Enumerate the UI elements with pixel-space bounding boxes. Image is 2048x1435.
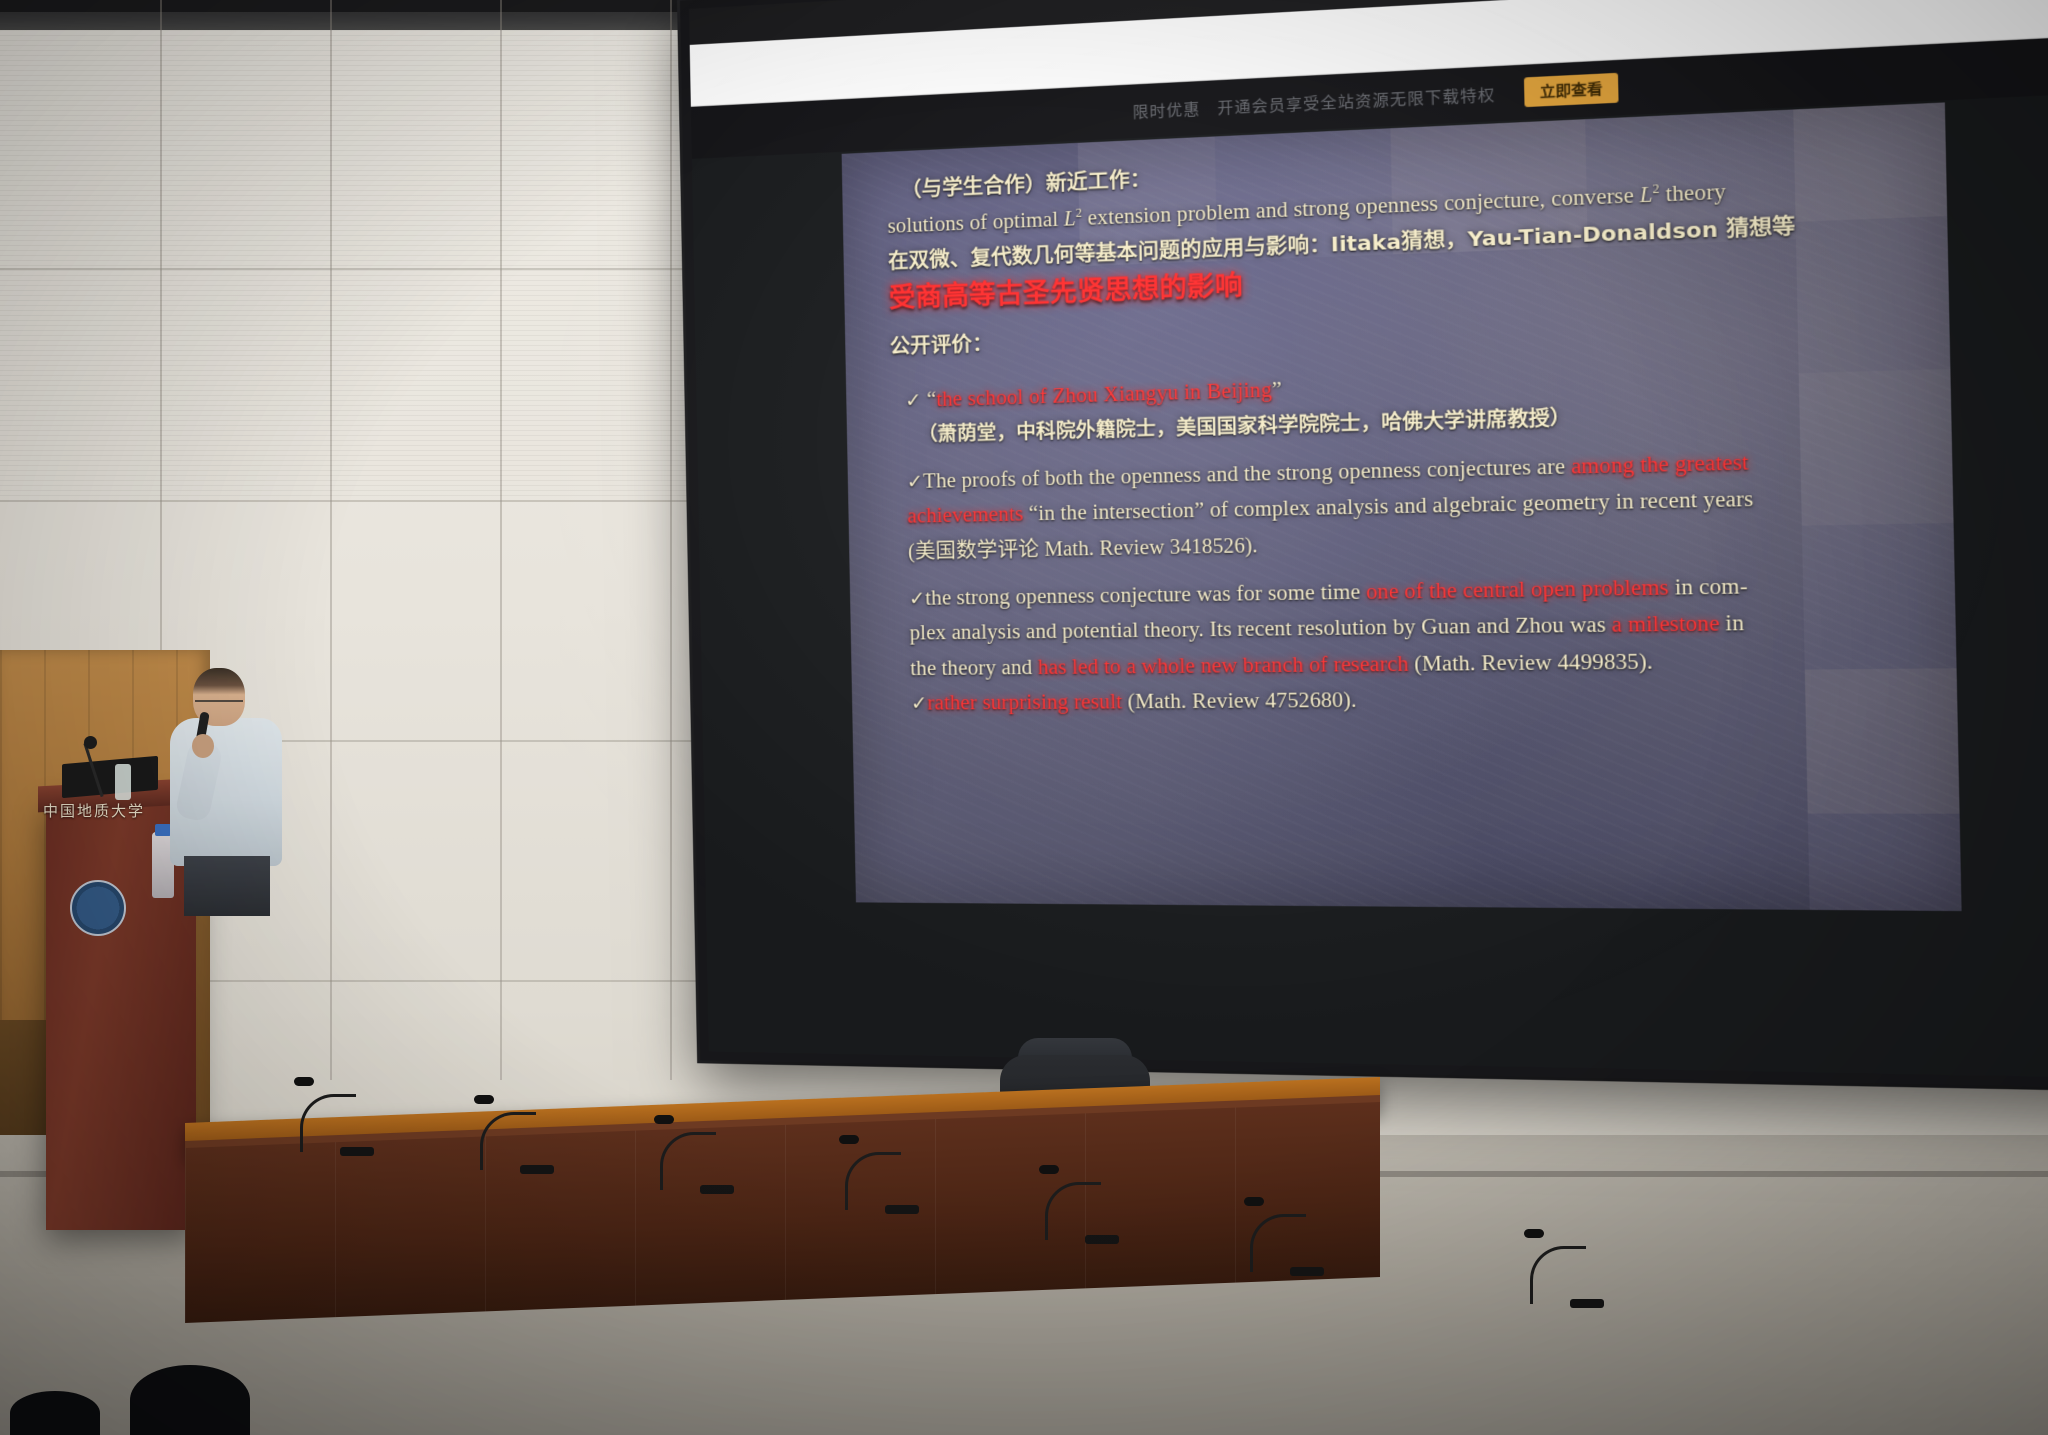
text-seg: the strong openness conjecture was for s… <box>925 581 1366 610</box>
screen-surface: × 限时优惠 开通会员享受全站资源无限下载特权 立即查看 （与学生合作）新近工作… <box>689 0 2048 1079</box>
red-highlight-text: among the greatest <box>1571 451 1749 479</box>
presentation-slide: （与学生合作）新近工作： solutions of optimal L2 ext… <box>842 102 1962 911</box>
water-bottle-cap <box>155 824 171 836</box>
red-highlight-text: one of the central open problems <box>1366 576 1669 604</box>
red-highlight-text: 受商高等古圣先贤思想的影响 <box>889 271 1243 315</box>
text-seg: plex analysis and potential theory. Its … <box>909 614 1612 645</box>
table-microphone <box>660 1118 730 1190</box>
table-microphone <box>1530 1232 1600 1304</box>
text-seg: “in the intersection” of complex analysi… <box>1028 488 1753 526</box>
promo-banner-text: 限时优惠 开通会员享受全站资源无限下载特权 <box>1132 83 1495 123</box>
university-logo <box>70 880 126 936</box>
slide-bullet-3-line-2: plex analysis and potential theory. Its … <box>895 611 1916 644</box>
check-icon: ✓ <box>907 470 924 493</box>
screen-frame: × 限时优惠 开通会员享受全站资源无限下载特权 立即查看 （与学生合作）新近工作… <box>680 0 2048 1089</box>
math-L: L <box>1064 208 1076 231</box>
text-seg: the theory and <box>910 656 1038 680</box>
red-highlight-text: has led to a whole new branch of researc… <box>1038 653 1409 679</box>
lecture-hall-photo: × 限时优惠 开通会员享受全站资源无限下载特权 立即查看 （与学生合作）新近工作… <box>0 0 2048 1435</box>
text-seg: The proofs of both the openness and the … <box>923 455 1571 493</box>
venue-name-label: 中国地质大学 <box>26 800 162 821</box>
table-microphone <box>480 1098 550 1170</box>
text-seg: (Math. Review 4499835). <box>1408 650 1653 676</box>
promo-cta-button[interactable]: 立即查看 <box>1524 73 1619 107</box>
slide-bullet-2-line-2: achievements “in the intersection” of co… <box>893 486 1913 528</box>
presenter-glasses <box>195 700 243 709</box>
red-highlight-text: achievements <box>907 503 1023 528</box>
text-seg: in com- <box>1669 575 1748 600</box>
slide-content: （与学生合作）新近工作： solutions of optimal L2 ext… <box>887 135 1921 891</box>
table-microphone <box>300 1080 370 1152</box>
red-highlight-text: a milestone <box>1612 613 1720 638</box>
audience-silhouette <box>10 1391 100 1435</box>
table-microphone <box>845 1138 915 1210</box>
slide-bullet-2-citation: (美国数学评论 Math. Review 3418526). <box>894 523 1914 562</box>
acoustic-panel <box>0 30 690 270</box>
projection-screen: × 限时优惠 开通会员享受全站资源无限下载特权 立即查看 （与学生合作）新近工作… <box>680 0 2048 1089</box>
check-icon: ✓ <box>905 390 922 413</box>
acoustic-panel <box>0 270 690 500</box>
slide-bullet-2-line-1: ✓The proofs of both the openness and the… <box>892 448 1912 493</box>
text-seg: (Math. Review 4752680). <box>1122 689 1357 713</box>
lectern-microphone-head <box>84 736 97 749</box>
text-seg: in <box>1719 612 1744 636</box>
audience-silhouette <box>130 1365 250 1435</box>
math-L: L <box>1640 183 1653 207</box>
slide-bullet-3-line-1: ✓the strong openness conjecture was for … <box>895 574 1916 610</box>
table-microphone <box>1045 1168 1115 1240</box>
slide-section-title: 公开评价： <box>890 303 1910 357</box>
presenter-hand <box>192 734 214 758</box>
text-seg: theory <box>1659 180 1726 206</box>
slide-bullet-4: ✓rather surprising result (Math. Review … <box>897 686 1918 714</box>
presenter-legs <box>184 856 270 916</box>
slide-bullet-3-line-3: the theory and has led to a whole new br… <box>896 649 1917 680</box>
quote-close: ” <box>1272 379 1282 402</box>
check-icon: ✓ <box>911 693 928 715</box>
red-highlight-text: rather surprising result <box>927 691 1122 715</box>
table-microphone <box>1250 1200 1320 1272</box>
red-highlight-text: the school of Zhou Xiangyu in Beijing <box>936 379 1272 411</box>
text-seg: solutions of optimal <box>887 208 1064 238</box>
check-icon: ✓ <box>909 587 926 610</box>
water-bottle-small <box>115 764 131 800</box>
